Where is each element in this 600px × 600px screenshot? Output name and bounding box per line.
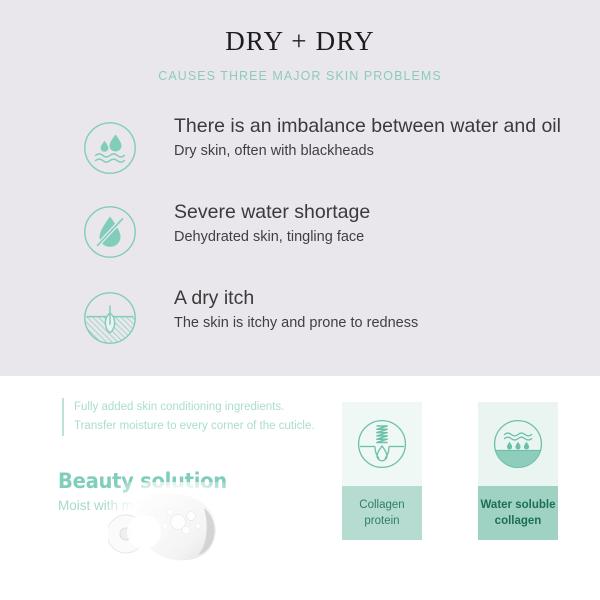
ingredient-label-line1: Collagen bbox=[359, 497, 404, 513]
problem-subtitle: Dehydrated skin, tingling face bbox=[174, 226, 370, 248]
page-title: DRY + DRY bbox=[0, 26, 600, 57]
problem-subtitle: Dry skin, often with blackheads bbox=[174, 140, 561, 162]
page-subtitle: CAUSES THREE MAJOR SKIN PROBLEMS bbox=[0, 69, 600, 83]
problem-row: Severe water shortage Dehydrated skin, t… bbox=[0, 194, 600, 272]
problem-row: A dry itch The skin is itchy and prone t… bbox=[0, 280, 600, 358]
ingredient-card[interactable]: Collagen protein bbox=[342, 402, 422, 540]
problem-title: There is an imbalance between water and … bbox=[174, 113, 561, 139]
brand-title: Beauty solution bbox=[58, 468, 227, 494]
problem-text: A dry itch The skin is itchy and prone t… bbox=[174, 285, 418, 334]
problems-section: DRY + DRY CAUSES THREE MAJOR SKIN PROBLE… bbox=[0, 0, 600, 376]
problem-title: Severe water shortage bbox=[174, 199, 370, 225]
benefits-list: Fully added skin conditioning ingredient… bbox=[62, 398, 315, 436]
ingredient-card[interactable]: Water soluble collagen bbox=[478, 402, 558, 540]
poster-root: DRY + DRY CAUSES THREE MAJOR SKIN PROBLE… bbox=[0, 0, 600, 600]
ingredient-label-line2: protein bbox=[364, 513, 399, 529]
problem-text: Severe water shortage Dehydrated skin, t… bbox=[174, 199, 370, 248]
ingredient-label-line1: Water soluble bbox=[481, 497, 556, 513]
ingredient-label: Collagen protein bbox=[342, 486, 422, 540]
water-drops-waves-icon bbox=[83, 121, 137, 175]
ingredient-label: Water soluble collagen bbox=[478, 486, 558, 540]
problem-subtitle: The skin is itchy and prone to redness bbox=[174, 312, 418, 334]
problem-text: There is an imbalance between water and … bbox=[174, 113, 561, 162]
ingredient-label-line2: collagen bbox=[495, 513, 542, 529]
problem-title: A dry itch bbox=[174, 285, 418, 311]
no-water-drop-icon bbox=[83, 205, 137, 259]
brand-block: Beauty solution Moist with moisture bbox=[58, 468, 240, 517]
collagen-coil-drop-icon bbox=[356, 415, 408, 473]
benefit-line: Fully added skin conditioning ingredient… bbox=[74, 398, 315, 417]
brand-subtitle: Moist with moisture bbox=[58, 495, 240, 517]
water-waves-drops-icon bbox=[492, 415, 544, 473]
benefit-line: Transfer moisture to every corner of the… bbox=[74, 417, 315, 436]
dry-follicle-skin-icon bbox=[83, 291, 137, 345]
ingredient-icon-area bbox=[342, 402, 422, 486]
ingredient-icon-area bbox=[478, 402, 558, 486]
problem-row: There is an imbalance between water and … bbox=[0, 109, 600, 187]
